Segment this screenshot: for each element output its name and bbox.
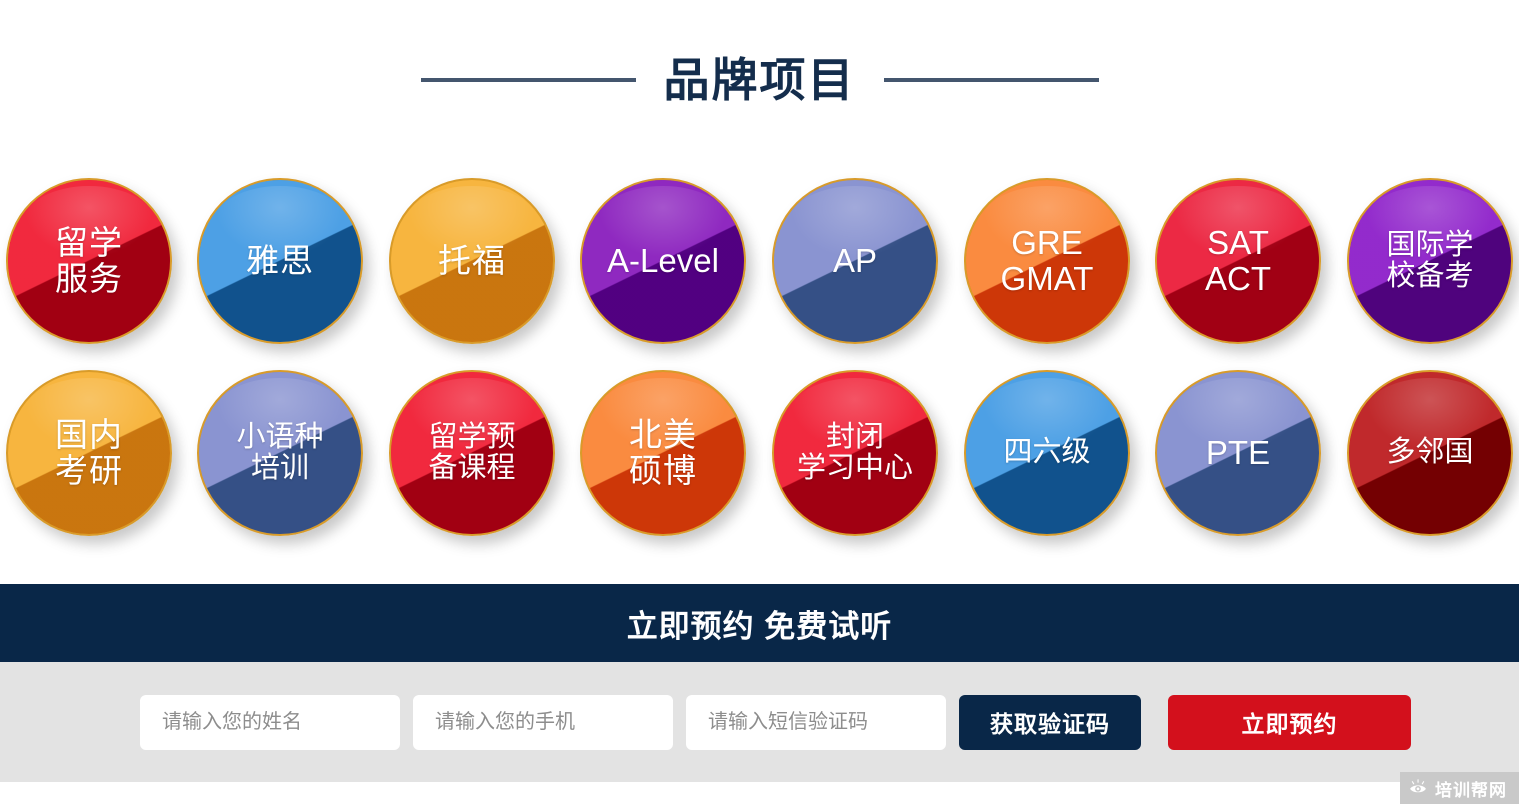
- program-bubble[interactable]: A-Level: [580, 178, 746, 344]
- program-row-1: 留学 服务雅思托福A-LevelAPGRE GMATSAT ACT国际学 校备考: [0, 178, 1519, 370]
- program-bubble-label: 国内 考研: [49, 417, 129, 488]
- program-bubble[interactable]: 雅思: [197, 178, 363, 344]
- program-bubble-label: 雅思: [240, 243, 320, 279]
- program-bubble[interactable]: 四六级: [964, 370, 1130, 536]
- program-bubble[interactable]: PTE: [1155, 370, 1321, 536]
- program-bubble[interactable]: AP: [772, 178, 938, 344]
- program-bubble[interactable]: 封闭 学习中心: [772, 370, 938, 536]
- watermark-label: 培训帮网: [1435, 776, 1507, 801]
- program-bubble[interactable]: SAT ACT: [1155, 178, 1321, 344]
- title-rule-right: [884, 78, 1099, 82]
- program-bubble[interactable]: 托福: [389, 178, 555, 344]
- get-code-button[interactable]: 获取验证码: [959, 695, 1141, 750]
- program-bubble[interactable]: 留学 服务: [6, 178, 172, 344]
- program-bubble-label: PTE: [1200, 435, 1276, 471]
- program-row-2: 国内 考研小语种 培训留学预 备课程北美 硕博封闭 学习中心四六级PTE多邻国: [0, 370, 1519, 562]
- program-bubble[interactable]: 多邻国: [1347, 370, 1513, 536]
- program-bubble-label: 北美 硕博: [623, 417, 703, 488]
- program-bubble[interactable]: 北美 硕博: [580, 370, 746, 536]
- program-bubble-label: GRE GMAT: [995, 225, 1100, 296]
- program-bubble-label: A-Level: [601, 243, 725, 279]
- program-bubble[interactable]: 国内 考研: [6, 370, 172, 536]
- program-bubble-label: AP: [827, 243, 883, 279]
- program-bubble-label: 托福: [432, 243, 512, 279]
- program-bubble[interactable]: 小语种 培训: [197, 370, 363, 536]
- program-bubble[interactable]: 留学预 备课程: [389, 370, 555, 536]
- site-watermark: 培训帮网: [1400, 772, 1519, 804]
- program-bubble[interactable]: GRE GMAT: [964, 178, 1130, 344]
- phone-input[interactable]: [413, 695, 673, 750]
- cta-banner-text: 立即预约 免费试听: [627, 601, 893, 646]
- brand-programs-page: 品牌项目 留学 服务雅思托福A-LevelAPGRE GMATSAT ACT国际…: [0, 0, 1519, 804]
- signup-form: 获取验证码 立即预约: [0, 662, 1519, 782]
- sms-code-input[interactable]: [686, 695, 946, 750]
- name-input[interactable]: [140, 695, 400, 750]
- program-bubble[interactable]: 国际学 校备考: [1347, 178, 1513, 344]
- submit-booking-button[interactable]: 立即预约: [1168, 695, 1411, 750]
- program-bubble-label: 留学预 备课程: [422, 422, 521, 485]
- program-bubble-label: 四六级: [997, 437, 1096, 468]
- cta-banner: 立即预约 免费试听: [0, 584, 1519, 662]
- program-bubble-label: 小语种 培训: [230, 422, 329, 485]
- program-bubble-label: 多邻国: [1380, 437, 1479, 468]
- program-bubble-label: 留学 服务: [49, 225, 129, 296]
- program-bubble-label: 封闭 学习中心: [791, 422, 919, 485]
- eye-icon: [1408, 778, 1428, 798]
- title-rule-left: [421, 78, 636, 82]
- page-header: 品牌项目: [0, 0, 1519, 160]
- program-bubble-label: SAT ACT: [1199, 225, 1277, 296]
- program-bubble-label: 国际学 校备考: [1380, 230, 1479, 293]
- page-title: 品牌项目: [664, 57, 856, 103]
